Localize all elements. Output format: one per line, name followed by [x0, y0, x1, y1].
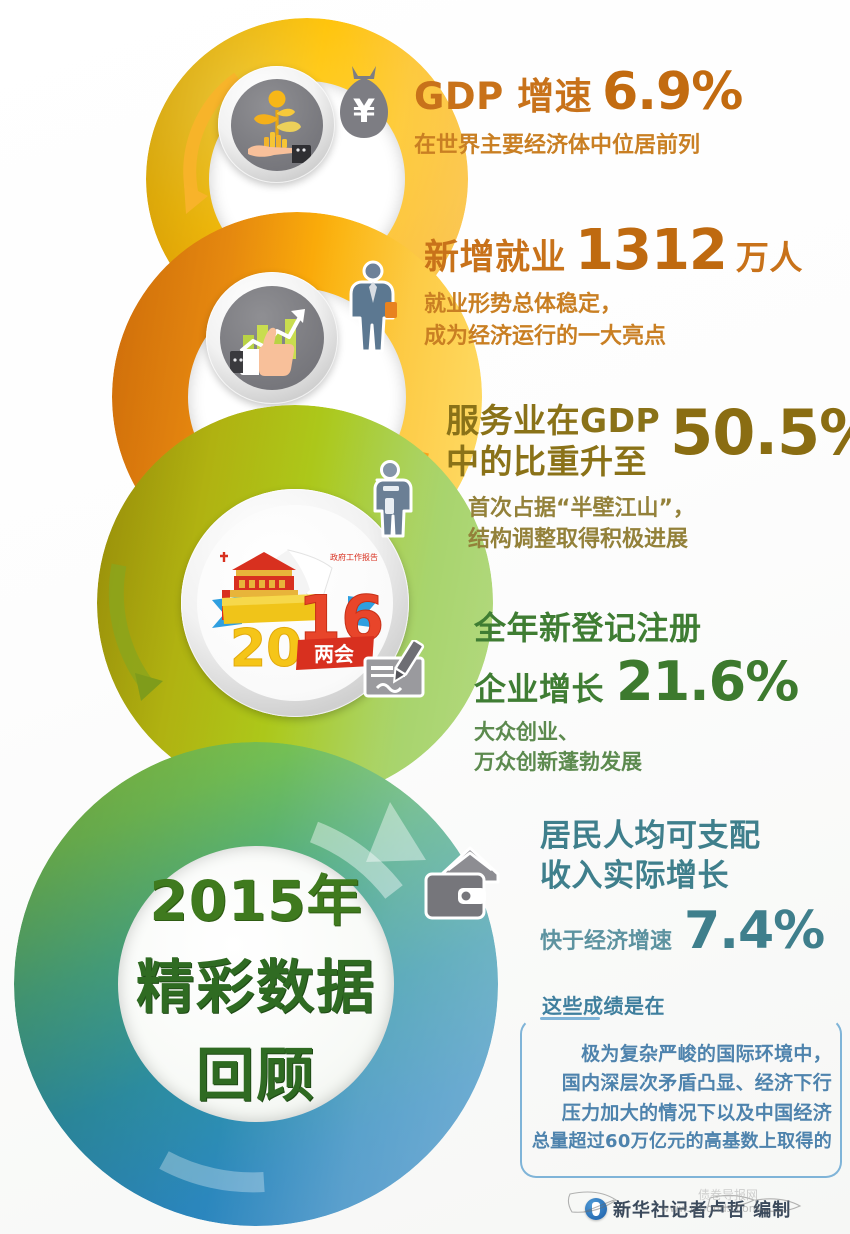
- center-title-line3: 回顾: [196, 1028, 316, 1112]
- stat-enterprises-label-1: 企业增长: [474, 664, 604, 710]
- icon-disc-gdp: [218, 66, 335, 183]
- lianghui-report-label: 政府工作报告: [330, 552, 378, 562]
- footnote-text: 极为复杂严峻的国际环境中， 国内深层次矛盾凸显、经济下行 压力加大的情况下以及中…: [524, 1040, 842, 1156]
- stat-services-block: 服务业在GDP 中的比重升至 50.5% 首次占据“半壁江山”， 结构调整取得积…: [446, 400, 850, 556]
- stat-income-prefix: 快于经济增速: [540, 926, 672, 958]
- stat-employment-unit: 万人: [736, 231, 803, 279]
- stat-enterprises-block: 全年新登记注册 企业增长 21.6% 大众创业、 万众创新蓬勃发展: [474, 608, 798, 777]
- center-title-block: 2015年 精彩数据 回顾: [118, 846, 394, 1122]
- money-bag-yuan-icon: ¥: [330, 62, 398, 146]
- footnote-line-2: 压力加大的情况下以及中国经济: [524, 1099, 832, 1128]
- stat-enterprises-desc-1: 万众创新蓬勃发展: [474, 747, 798, 777]
- footnote-line-3: 总量超过60万亿元的高基数上取得的: [524, 1128, 832, 1156]
- footnote-lead: 这些成绩是在: [542, 990, 665, 1019]
- svg-text:¥: ¥: [353, 92, 375, 130]
- stat-income-block: 居民人均可支配 收入实际增长 快于经济增速 7.4%: [540, 816, 824, 961]
- stat-gdp-value: 6.9%: [602, 62, 742, 122]
- stat-employment-desc-1: 成为经济运行的一大亮点: [424, 321, 803, 353]
- stat-services-desc-0: 首次占据“半壁江山”，: [446, 493, 850, 525]
- footnote-line-0: 极为复杂严峻的国际环境中，: [524, 1040, 832, 1069]
- stat-income-value: 7.4%: [684, 901, 824, 961]
- lianghui-year-left: 20: [230, 619, 302, 678]
- check-pen-signature-icon: [361, 640, 435, 708]
- stat-enterprises-value: 21.6%: [616, 650, 798, 713]
- stat-employment-label: 新增就业: [424, 229, 566, 280]
- stat-employment-block: 新增就业 1312 万人 就业形势总体稳定， 成为经济运行的一大亮点: [424, 218, 803, 353]
- credit-agency: 新华社记者卢哲 编制: [613, 1196, 791, 1222]
- stat-employment-value: 1312: [575, 218, 727, 283]
- service-worker-icon: [363, 458, 419, 538]
- stat-gdp-block: GDP 增速 6.9% 在世界主要经济体中位居前列: [414, 62, 742, 162]
- center-title-line2: 精彩数据: [136, 940, 376, 1024]
- stat-services-label-0: 服务业在GDP: [446, 400, 660, 441]
- stat-income-label-1: 收入实际增长: [540, 856, 824, 896]
- footnote-box-topline: [540, 1017, 600, 1020]
- wallet-house-icon: [418, 840, 504, 926]
- stat-employment-desc-0: 就业形势总体稳定，: [424, 289, 803, 321]
- center-title-line1: 2015年: [149, 856, 362, 936]
- footnote-line-1: 国内深层次矛盾凸显、经济下行: [524, 1069, 832, 1098]
- stat-enterprises-label-0: 全年新登记注册: [474, 608, 798, 650]
- stat-services-value: 50.5%: [670, 396, 850, 469]
- businessman-icon: [345, 258, 409, 358]
- stat-services-desc-1: 结构调整取得积极进展: [446, 524, 850, 556]
- xinhua-logo-icon: [585, 1198, 607, 1220]
- stat-enterprises-desc-0: 大众创业、: [474, 717, 798, 747]
- stat-services-label-1: 中的比重升至: [446, 441, 660, 482]
- thumbs-up-chart-icon: [223, 289, 321, 387]
- icon-disc-employment: [206, 272, 338, 404]
- money-plant-hand-icon: [234, 82, 320, 168]
- stat-gdp-desc-0: 在世界主要经济体中位居前列: [414, 130, 742, 162]
- credit-block: 新华社记者卢哲 编制: [585, 1196, 791, 1222]
- infographic-canvas: ¥: [0, 0, 850, 1234]
- stat-income-label-0: 居民人均可支配: [540, 816, 824, 856]
- stat-gdp-label: GDP 增速: [414, 66, 592, 120]
- lianghui-meeting-label: 两会: [314, 642, 354, 666]
